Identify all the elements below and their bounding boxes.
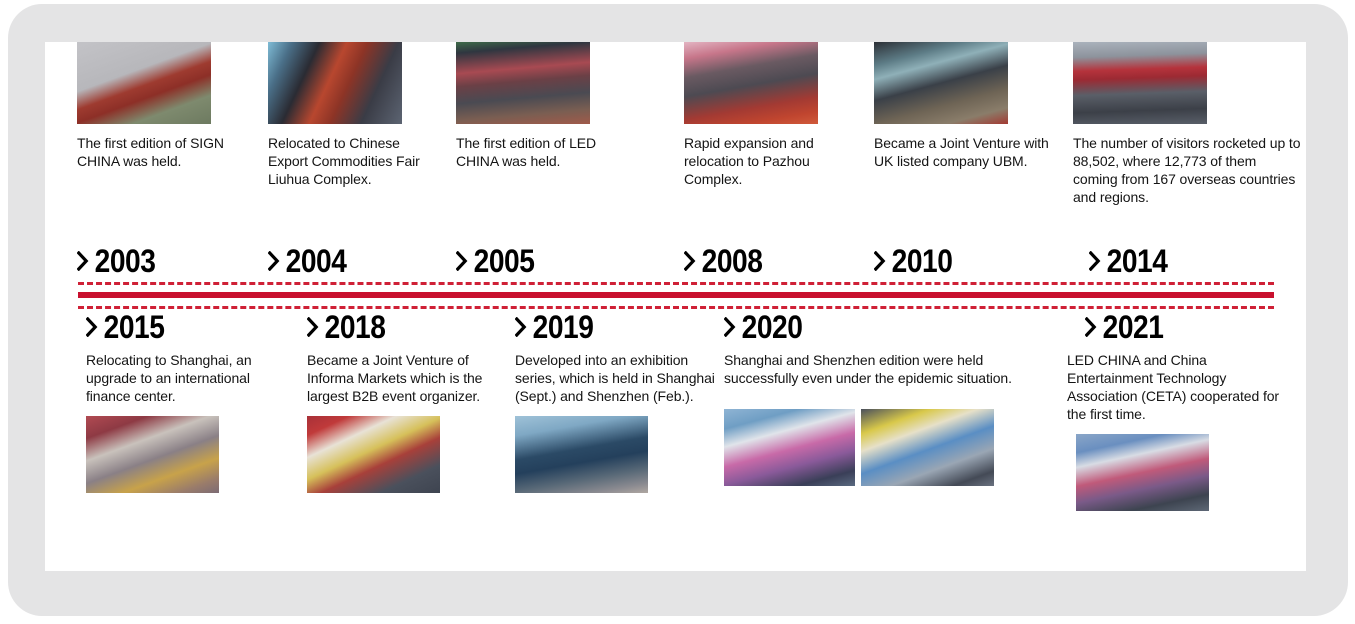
chevron-right-icon: [268, 251, 279, 271]
timeline-year: 2020: [724, 310, 979, 344]
timeline-year-label: 2004: [286, 244, 347, 278]
timeline-image: [77, 42, 211, 124]
thumbnail-group: [268, 42, 443, 124]
timeline-description: Became a Joint Venture with UK listed co…: [874, 134, 1059, 170]
timeline-year-label: 2005: [474, 244, 535, 278]
chevron-right-icon: [86, 317, 97, 337]
timeline-year: 2019: [515, 310, 691, 344]
divider-solid-line: [78, 292, 1274, 298]
timeline-year-label: 2015: [104, 310, 165, 344]
timeline-year: 2008: [684, 244, 762, 278]
timeline-item-2005[interactable]: The first edition of LED CHINA was held.…: [456, 42, 631, 278]
thumbnail-group: [307, 416, 502, 493]
timeline-item-2010[interactable]: Became a Joint Venture with UK listed co…: [874, 42, 1059, 278]
timeline-description: Relocated to Chinese Export Commodities …: [268, 134, 443, 188]
timeline-year-label: 2010: [892, 244, 953, 278]
timeline-description: LED CHINA and China Entertainment Techno…: [1067, 351, 1289, 423]
timeline-item-2021[interactable]: 2021 LED CHINA and China Entertainment T…: [1067, 310, 1292, 511]
timeline-image: [724, 409, 855, 486]
timeline-row-top: The first edition of SIGN CHINA was held…: [45, 42, 1306, 278]
timeline-description: The number of visitors rocketed up to 88…: [1073, 134, 1301, 206]
timeline-year: 2014: [1089, 244, 1167, 278]
timeline-image: [456, 42, 590, 124]
timeline-year-label: 2021: [1103, 310, 1164, 344]
timeline-divider: [78, 280, 1274, 310]
timeline-image: [861, 409, 994, 486]
timeline-description: Relocating to Shanghai, an upgrade to an…: [86, 351, 266, 405]
timeline-description: Rapid expansion and relocation to Pazhou…: [684, 134, 859, 188]
chevron-right-icon: [1089, 251, 1100, 271]
timeline-card: The first edition of SIGN CHINA was held…: [45, 42, 1306, 571]
thumbnail-group: [515, 416, 715, 493]
timeline-description: The first edition of LED CHINA was held.: [456, 134, 631, 170]
timeline-year: 2021: [1085, 310, 1267, 344]
thumbnail-group: [77, 42, 252, 124]
timeline-image: [307, 416, 440, 493]
divider-dashed-top: [78, 282, 1274, 285]
chevron-right-icon: [307, 317, 318, 337]
timeline-item-2008[interactable]: Rapid expansion and relocation to Pazhou…: [684, 42, 859, 278]
chevron-right-icon: [515, 317, 526, 337]
thumbnail-group: [684, 42, 859, 124]
timeline-image: [1076, 434, 1209, 511]
chevron-right-icon: [874, 251, 885, 271]
timeline-image: [268, 42, 402, 124]
timeline-image: [515, 416, 648, 493]
thumbnail-group: [86, 416, 266, 493]
thumbnail-group: [874, 42, 1059, 124]
timeline-year: 2018: [307, 310, 479, 344]
timeline-year: 2004: [268, 244, 346, 278]
timeline-year-label: 2008: [702, 244, 763, 278]
timeline-image: [1073, 42, 1207, 124]
timeline-item-2014[interactable]: The number of visitors rocketed up to 88…: [1067, 42, 1297, 278]
timeline-item-2018[interactable]: 2018 Became a Joint Venture of Informa M…: [307, 310, 502, 493]
chevron-right-icon: [724, 317, 735, 337]
timeline-year-label: 2018: [325, 310, 386, 344]
timeline-item-2003[interactable]: The first edition of SIGN CHINA was held…: [77, 42, 252, 278]
timeline-year: 2015: [86, 310, 244, 344]
timeline-description: Became a Joint Venture of Informa Market…: [307, 351, 502, 405]
timeline-description: Shanghai and Shenzhen edition were held …: [724, 351, 1024, 387]
timeline-year: 2005: [456, 244, 534, 278]
timeline-year-label: 2014: [1107, 244, 1168, 278]
timeline-year-label: 2019: [533, 310, 594, 344]
timeline-image: [86, 416, 219, 493]
chevron-right-icon: [77, 251, 88, 271]
timeline-item-2015[interactable]: 2015 Relocating to Shanghai, an upgrade …: [86, 310, 266, 493]
timeline-year-label: 2020: [742, 310, 803, 344]
timeline-item-2019[interactable]: 2019 Developed into an exhibition series…: [515, 310, 715, 493]
timeline-item-2020[interactable]: 2020 Shanghai and Shenzhen edition were …: [724, 310, 1014, 486]
thumbnail-group: [1076, 434, 1292, 511]
thumbnail-group: [1073, 42, 1297, 124]
chevron-right-icon: [1085, 317, 1096, 337]
timeline-description: The first edition of SIGN CHINA was held…: [77, 134, 252, 170]
thumbnail-group: [456, 42, 631, 124]
timeline-description: Developed into an exhibition series, whi…: [515, 351, 715, 405]
timeline-year: 2003: [77, 244, 155, 278]
thumbnail-group: [724, 409, 1014, 486]
timeline-year-label: 2003: [95, 244, 156, 278]
timeline-image: [874, 42, 1008, 124]
chevron-right-icon: [456, 251, 467, 271]
divider-dashed-bottom: [78, 306, 1274, 309]
timeline-image: [684, 42, 818, 124]
timeline-item-2004[interactable]: Relocated to Chinese Export Commodities …: [268, 42, 443, 278]
infographic-root: The first edition of SIGN CHINA was held…: [0, 0, 1355, 624]
chevron-right-icon: [684, 251, 695, 271]
timeline-row-bottom: 2015 Relocating to Shanghai, an upgrade …: [45, 310, 1306, 571]
timeline-year: 2010: [874, 244, 952, 278]
